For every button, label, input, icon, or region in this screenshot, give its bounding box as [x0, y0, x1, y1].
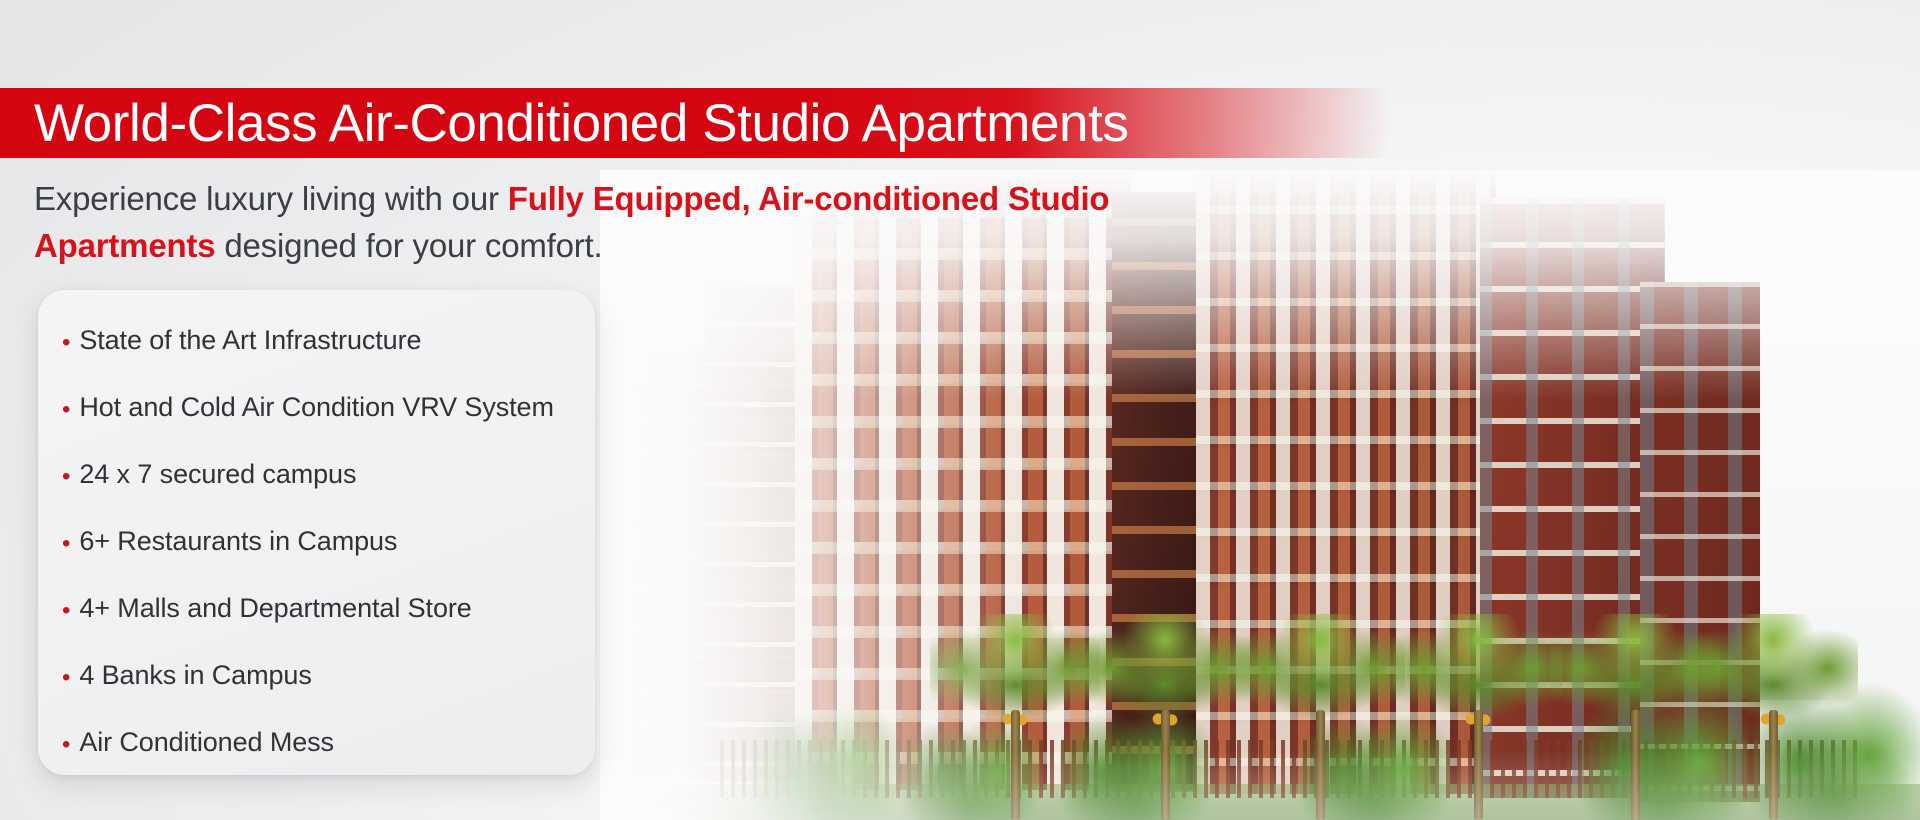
bullet-dot-icon: •: [62, 398, 70, 422]
list-item-label: Air Conditioned Mess: [79, 728, 334, 758]
list-item-label: 4 Banks in Campus: [79, 661, 311, 691]
artwork-bottom-fade: [600, 750, 1920, 820]
bullet-dot-icon: •: [62, 532, 70, 556]
list-item: • State of the Art Infrastructure: [62, 326, 595, 393]
list-item-label: Hot and Cold Air Condition VRV System: [79, 393, 554, 423]
list-item: • Air Conditioned Mess: [62, 728, 595, 795]
list-item: • 24 x 7 secured campus: [62, 460, 595, 527]
subtitle-lead: Experience luxury living with our: [34, 180, 508, 217]
bullet-dot-icon: •: [62, 733, 70, 757]
subtitle-text: Experience luxury living with our Fully …: [34, 176, 1184, 270]
list-item-label: 24 x 7 secured campus: [79, 460, 356, 490]
list-item: • 6+ Restaurants in Campus: [62, 527, 595, 594]
list-item: • 4 Banks in Campus: [62, 661, 595, 728]
subtitle-highlight-one: Fully Equipped, Air-conditioned: [508, 180, 999, 217]
list-item: • 4+ Malls and Departmental Store: [62, 594, 595, 661]
page-background: World-Class Air-Conditioned Studio Apart…: [0, 0, 1920, 820]
list-item-label: 6+ Restaurants in Campus: [79, 527, 397, 557]
list-item: • Hot and Cold Air Condition VRV System: [62, 393, 595, 460]
list-item-label: 4+ Malls and Departmental Store: [79, 594, 471, 624]
subtitle-tail: designed for your comfort.: [215, 227, 602, 264]
bullet-dot-icon: •: [62, 465, 70, 489]
headline-banner: World-Class Air-Conditioned Studio Apart…: [0, 88, 1390, 158]
list-item-label: State of the Art Infrastructure: [79, 326, 421, 356]
bullet-dot-icon: •: [62, 331, 70, 355]
bullet-dot-icon: •: [62, 599, 70, 623]
features-card: • State of the Art Infrastructure • Hot …: [38, 290, 595, 775]
bullet-dot-icon: •: [62, 666, 70, 690]
page-title: World-Class Air-Conditioned Studio Apart…: [0, 97, 1129, 150]
